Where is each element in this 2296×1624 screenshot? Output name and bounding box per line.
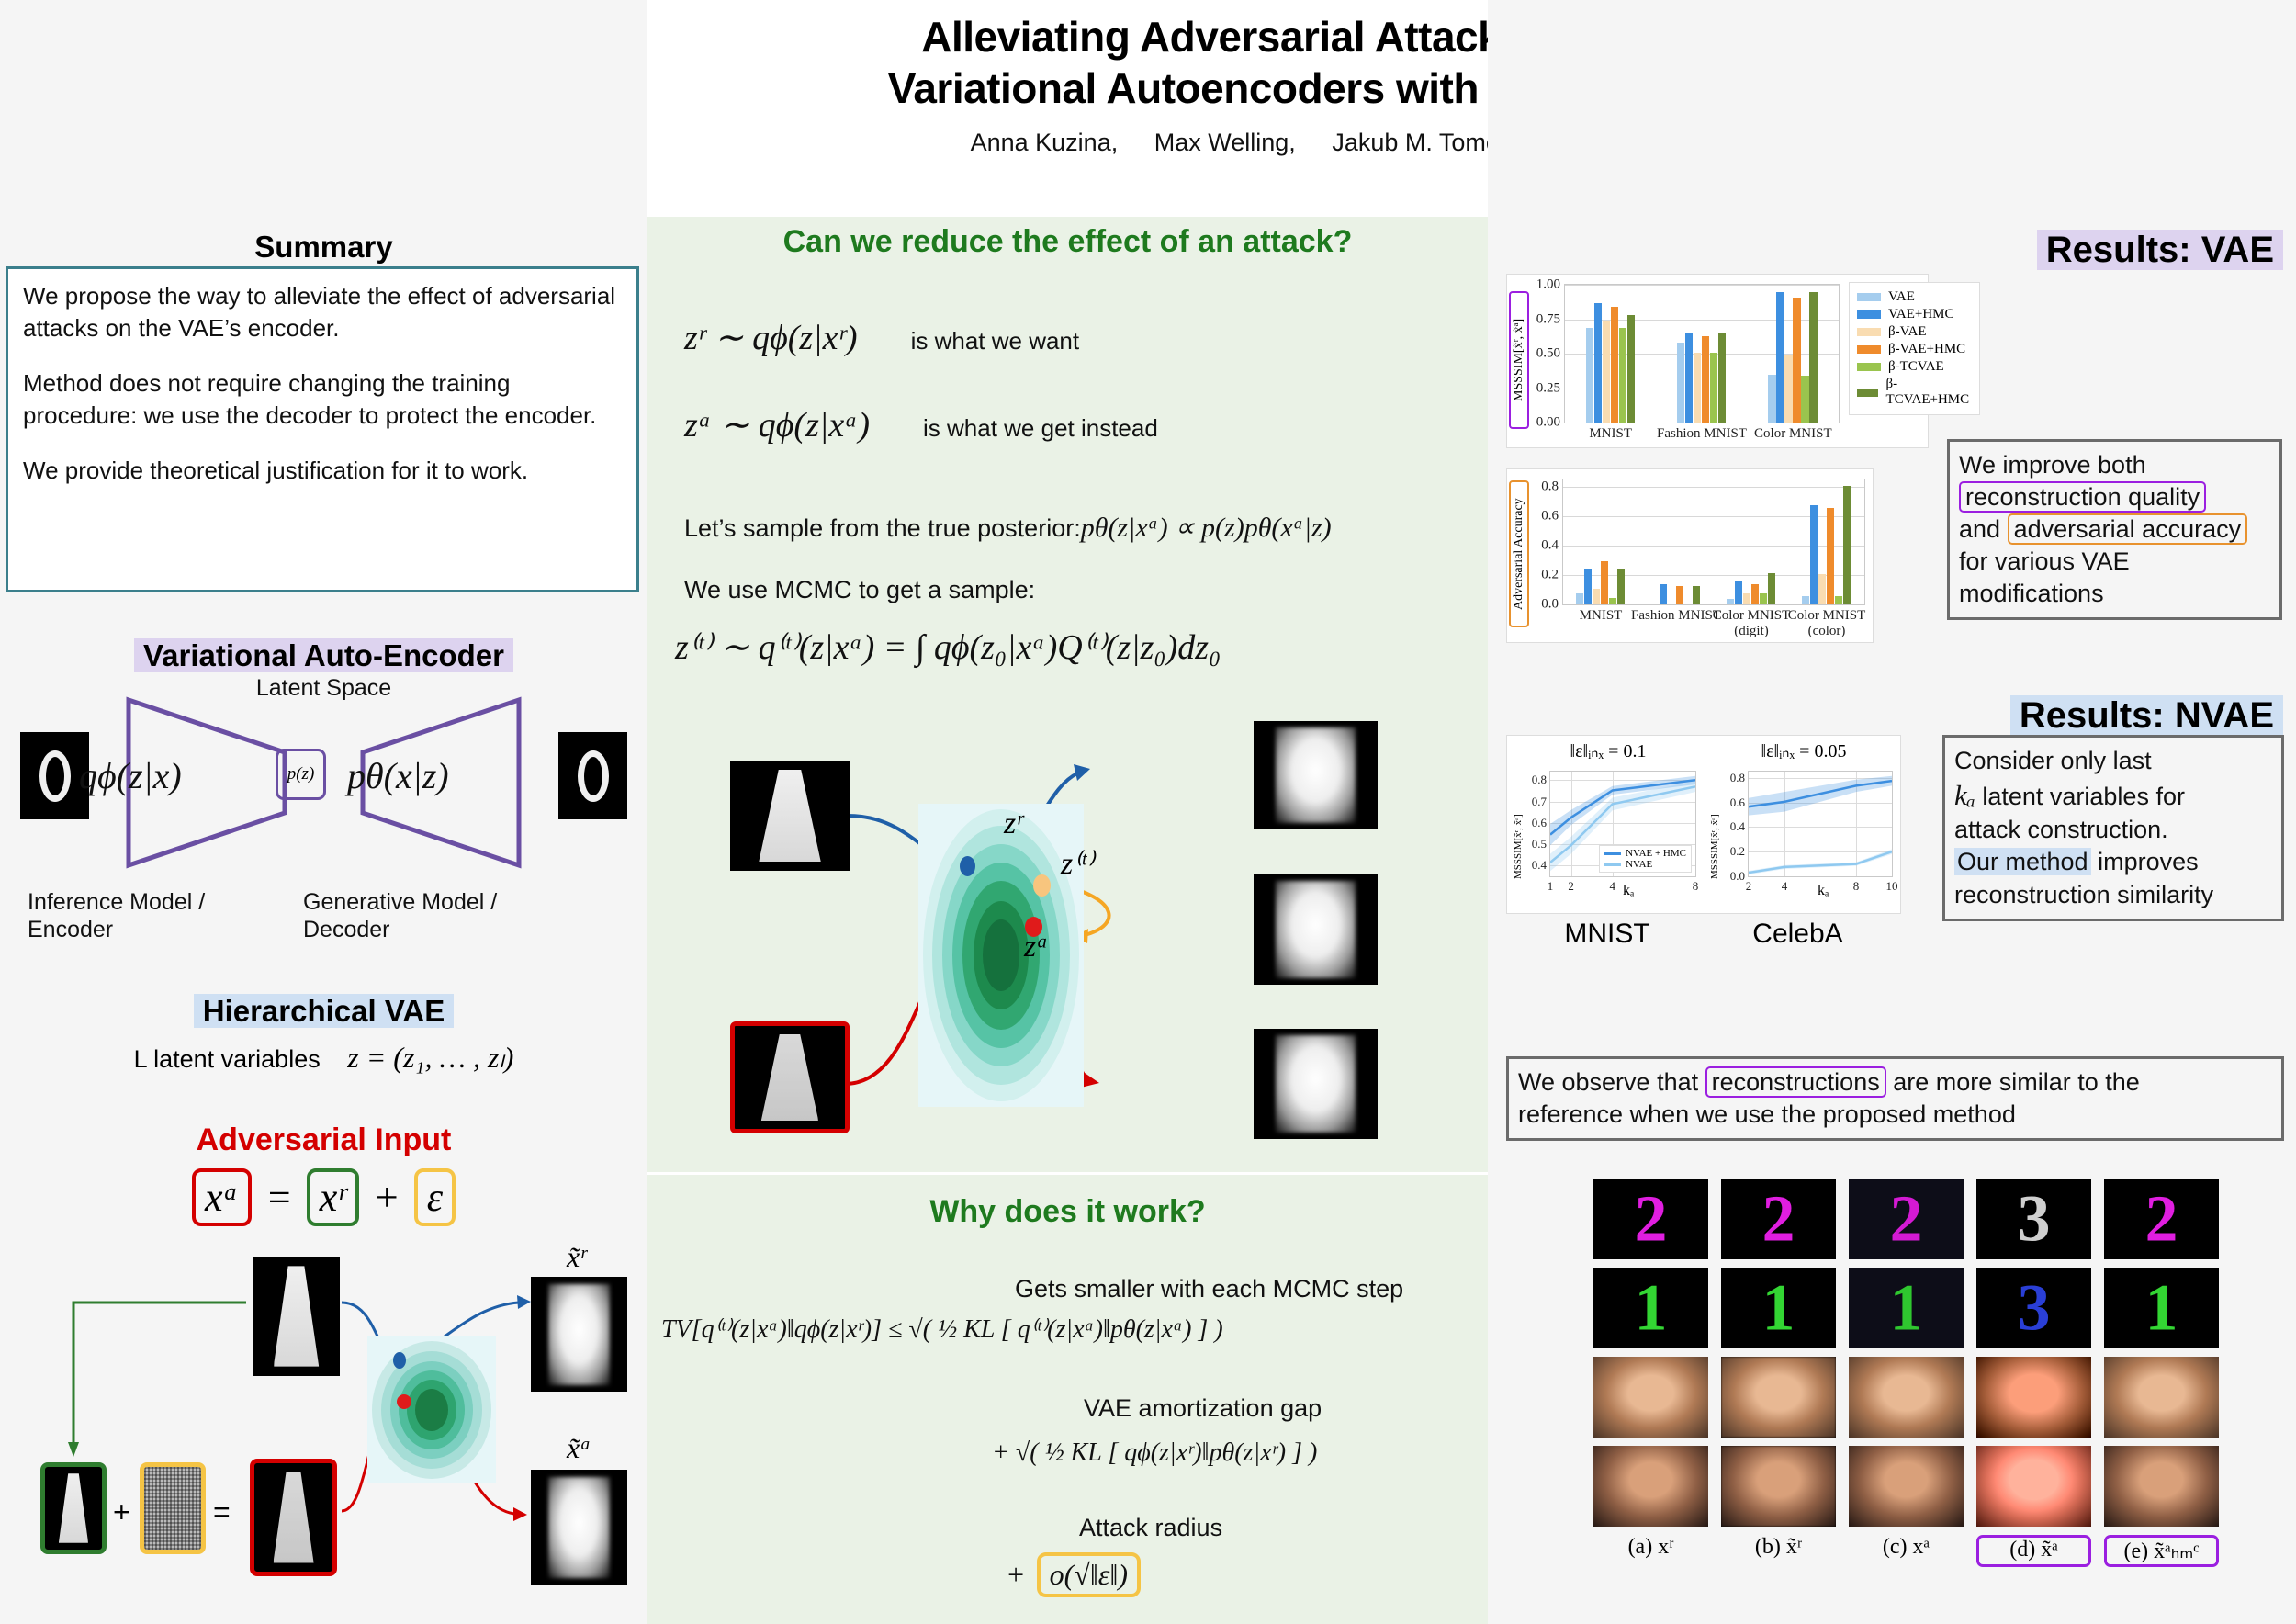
recon-cell: 2 — [1593, 1179, 1708, 1259]
note-box-nvae: Consider only last kₐ latent variables f… — [1942, 735, 2284, 921]
adversarial-equation: xᵃ = xʳ + ε — [0, 1168, 647, 1226]
note-amortization-gap: VAE amortization gap — [1084, 1394, 1322, 1423]
recon-caption-e: (e) x̃ᵃₕₘᶜ — [2104, 1535, 2219, 1567]
author-2: Max Welling, — [1154, 129, 1296, 156]
y-axis-tick: 1.00 — [1536, 277, 1560, 293]
nvae-dataset-label-mnist: MNIST — [1515, 919, 1699, 950]
bar — [1784, 355, 1792, 423]
y-axis-tick: 0.8 — [1730, 771, 1745, 785]
chart-nvae-mnist-xlabel: kₐ — [1623, 883, 1634, 899]
bar — [1809, 292, 1817, 423]
mcmc-input-adversarial — [730, 1021, 850, 1133]
x-axis-tick: 4 — [1609, 879, 1615, 894]
y-axis-tick: 0.6 — [1532, 816, 1547, 830]
note-nvae-line-4a: Our method — [1954, 848, 2091, 875]
equation-za: zᵃ ∼ qϕ(z|xᵃ) — [684, 404, 870, 445]
hvae-line: L latent variables z = (z₁, … , zₗ) — [0, 1040, 647, 1075]
legend-label: β-VAE+HMC — [1888, 342, 1965, 357]
x-axis-tick: MNIST — [1589, 426, 1632, 442]
bar — [1601, 561, 1608, 604]
recon-cell: 2 — [1721, 1179, 1836, 1259]
summary-paragraph-3: We provide theoretical justification for… — [23, 455, 622, 487]
y-axis-tick: 0.5 — [1532, 837, 1547, 851]
legend-swatch — [1604, 863, 1621, 866]
equation-tv-lhs: TV[q⁽ᵗ⁾(z|xᵃ)‖qϕ(z|xʳ)] ≤ — [661, 1315, 902, 1344]
y-axis-tick: 0.4 — [1532, 858, 1547, 873]
legend-label: VAE — [1888, 289, 1915, 305]
bar — [1576, 593, 1583, 604]
x-axis-tick: Fashion MNIST — [1631, 608, 1721, 624]
chart-nvae-celeba-axes: 0.00.20.40.60.824810 — [1748, 771, 1893, 877]
legend-swatch — [1857, 293, 1881, 301]
note-nvae-ka: kₐ — [1954, 779, 1975, 811]
middle-heading-2: Why does it work? — [647, 1194, 1488, 1230]
bar — [1727, 599, 1734, 604]
legend-swatch — [1604, 852, 1621, 855]
summary-heading: Summary — [0, 230, 647, 265]
recon-caption-c: (c) xᵃ — [1849, 1535, 1964, 1567]
x-axis-tick: Color MNIST(digit) — [1713, 608, 1791, 639]
y-axis-tick: 0.25 — [1536, 380, 1560, 396]
legend-swatch — [1857, 310, 1881, 319]
y-axis-tick: 0.8 — [1541, 479, 1559, 495]
bar — [1584, 569, 1592, 604]
bar — [1801, 376, 1808, 423]
recon-cell: 2 — [2104, 1179, 2219, 1259]
gridline — [1563, 516, 1864, 517]
posterior-text: Let’s sample from the true posterior: — [684, 514, 1081, 543]
equation-zr: zʳ ∼ qϕ(z|xʳ) — [684, 317, 858, 358]
y-axis-tick: 0.2 — [1730, 844, 1745, 859]
eq-plus: + — [373, 1175, 400, 1220]
y-axis-tick: 0.7 — [1532, 795, 1547, 809]
posterior-equation: pθ(z|xᵃ) ∝ p(z)pθ(xᵃ|z) — [1081, 512, 1332, 544]
legend-label: β-VAE — [1888, 324, 1927, 340]
recon-row-digit-green: 1 1 1 3 1 — [1593, 1268, 2273, 1348]
x-axis-tick: 8 — [1853, 879, 1860, 894]
chart-nvae-celeba-xlabel: kₐ — [1818, 883, 1829, 899]
equation-tv-rhs: √( ½ KL [ q⁽ᵗ⁾(z|xᵃ)‖pθ(z|xᵃ) ] ) — [908, 1315, 1222, 1344]
results-vae-heading: Results: VAE — [2037, 230, 2283, 271]
note-vae-line-3a: and — [1959, 515, 2000, 543]
equation-zr-note: is what we want — [911, 327, 1080, 355]
y-axis-tick: 0.8 — [1532, 773, 1547, 787]
bar — [1768, 573, 1775, 604]
eq-equals: = — [265, 1175, 293, 1220]
note-nvae-line-2b: latent variables for — [1982, 783, 2185, 810]
encoder-caption: Inference Model /Encoder — [28, 888, 205, 943]
bar — [1677, 343, 1684, 423]
note-vae-line-2: reconstruction quality — [1959, 481, 2206, 513]
author-1: Anna Kuzina, — [971, 129, 1119, 156]
note-vae-line-3b: adversarial accuracy — [2008, 513, 2248, 545]
note-nvae-line-3: attack construction. — [1954, 814, 2272, 846]
recon-cell — [1849, 1357, 1964, 1438]
latent-contour-middle — [918, 804, 1084, 1107]
bar — [1810, 505, 1818, 604]
note-vae-line-1: We improve both — [1959, 449, 2270, 481]
bar — [1760, 593, 1767, 604]
bar — [1593, 589, 1600, 604]
note-nvae-line-5: reconstruction similarity — [1954, 879, 2272, 911]
legend-item: β-VAE+HMC — [1857, 342, 1972, 357]
latent-contour-left — [367, 1336, 496, 1483]
recon-adversarial-image — [531, 1470, 627, 1585]
posterior-line: Let’s sample from the true posterior: pθ… — [684, 512, 1332, 544]
bar — [1751, 584, 1759, 604]
bar — [1843, 486, 1851, 604]
legend-label: NVAE + HMC — [1626, 848, 1686, 859]
legend-item: β-TCVAE — [1857, 359, 1972, 375]
bar — [1702, 336, 1709, 423]
equation-term-2: + √( ½ KL [ qϕ(z|xʳ)‖pθ(z|xʳ) ] ) — [992, 1438, 1317, 1468]
gridline — [1563, 546, 1864, 547]
encoder-equation: qϕ(z|x) — [79, 754, 182, 797]
left-column: Summary We propose the way to alleviate … — [0, 0, 647, 1624]
bar — [1743, 593, 1750, 604]
vae-heading-text: Variational Auto-Encoder — [134, 638, 513, 672]
mcmc-output-reference — [1254, 721, 1378, 829]
legend-item: β-TCVAE+HMC — [1857, 377, 1972, 408]
bar — [1685, 333, 1693, 423]
bar — [1793, 298, 1800, 423]
recon-cell — [1593, 1446, 1708, 1527]
recon-cell: 1 — [2104, 1268, 2219, 1348]
bar — [1735, 581, 1742, 604]
legend-swatch — [1857, 389, 1878, 397]
chart-msssim-legend: VAEVAE+HMCβ-VAEβ-VAE+HMCβ-TCVAEβ-TCVAE+H… — [1849, 282, 1980, 415]
legend-swatch — [1857, 328, 1881, 336]
recon-cell — [1721, 1357, 1836, 1438]
legend-item: NVAE + HMC — [1604, 848, 1686, 859]
adversarial-input-heading: Adversarial Input — [0, 1122, 647, 1158]
adversarial-diagram: + = x̃ʳ x̃ᵃ — [0, 1249, 647, 1617]
prior-box: p(z) — [276, 749, 326, 800]
middle-heading-1: Can we reduce the effect of an attack? — [647, 224, 1488, 260]
line-series — [1749, 851, 1892, 873]
legend-item: VAE+HMC — [1857, 307, 1972, 322]
point-zr — [960, 856, 975, 876]
recon-cell: 3 — [1976, 1179, 2091, 1259]
hvae-heading-text: Hierarchical VAE — [194, 994, 455, 1028]
vae-output-image — [558, 732, 627, 819]
x-axis-tick: 2 — [1568, 879, 1574, 894]
mcmc-input-reference — [730, 761, 850, 871]
recon-cell — [2104, 1446, 2219, 1527]
bar — [1594, 303, 1602, 423]
chart-nvae-mnist-axes: 0.40.50.60.70.81248NVAE + HMCNVAE — [1549, 771, 1696, 877]
mcmc-output-hmc — [1254, 874, 1378, 985]
x-axis-tick: Color MNIST(color) — [1788, 608, 1866, 639]
bar — [1776, 292, 1784, 423]
x-axis-tick: 8 — [1693, 879, 1699, 894]
chart-adv-plot-area: 0.00.20.40.60.8MNISTFashion MNISTColor M… — [1507, 469, 1874, 644]
note-nvae-line-1: Consider only last — [1954, 745, 2272, 777]
legend-label: β-TCVAE — [1888, 359, 1944, 375]
reference-image — [253, 1257, 340, 1376]
legend-swatch — [1857, 363, 1881, 371]
note-mcmc-step: Gets smaller with each MCMC step — [1015, 1275, 1403, 1303]
summary-paragraph-1: We propose the way to alleviate the effe… — [23, 280, 622, 344]
recon-cell — [1976, 1446, 2091, 1527]
recon-cell: 1 — [1721, 1268, 1836, 1348]
chart-nvae-celeba-ylabel: MSSSIM[x̃ʳ, x̃ᵃ] — [1709, 771, 1720, 879]
note-box-vae: We improve both reconstruction quality a… — [1947, 439, 2282, 620]
bar — [1617, 569, 1625, 604]
hvae-equation: z = (z₁, … , zₗ) — [347, 1041, 513, 1074]
chart-msssim-vae: MSSSIM[x̃ʳ, x̃ᵃ] 0.000.250.500.751.00MNI… — [1506, 274, 1929, 448]
recon-row-face-female — [1593, 1446, 2273, 1527]
chart-nvae-mnist: ‖ε‖ᵢₙₓ = 0.1 MSSSIM[x̃ʳ, x̃ᵃ] 0.40.50.60… — [1511, 739, 1705, 912]
recon-cell: 1 — [1593, 1268, 1708, 1348]
y-axis-tick: 0.75 — [1536, 311, 1560, 327]
equation-term-3-prefix: + — [1006, 1558, 1026, 1592]
confidence-band — [1749, 850, 1892, 875]
legend-label: VAE+HMC — [1888, 307, 1954, 322]
x-axis-tick: MNIST — [1580, 608, 1623, 624]
y-axis-tick: 0.4 — [1730, 819, 1745, 834]
bar — [1660, 584, 1667, 604]
recon-caption-a: (a) xʳ — [1593, 1535, 1708, 1567]
bar — [1619, 328, 1626, 423]
equation-row-2: zᵃ ∼ qϕ(z|xᵃ) is what we get instead — [684, 404, 1158, 445]
note-attack-radius: Attack radius — [1079, 1514, 1222, 1542]
chart-adversarial-accuracy: Adversarial Accuracy 0.00.20.40.60.8MNIS… — [1506, 468, 1874, 643]
eq-x-adversarial: xᵃ — [192, 1168, 252, 1226]
recon-row-digit-magenta: 2 2 2 3 2 — [1593, 1179, 2273, 1259]
mcmc-text: We use MCMC to get a sample: — [684, 576, 1035, 604]
recon-cell — [1976, 1357, 2091, 1438]
label-zt: z⁽ᵗ⁾ — [1061, 845, 1094, 882]
recon-row-face-male — [1593, 1357, 2273, 1438]
equals-sign: = — [213, 1495, 231, 1529]
note-recon-line-1a: We observe that — [1518, 1068, 1698, 1096]
recon-cell: 1 — [1849, 1268, 1964, 1348]
recon-cell: 3 — [1976, 1268, 2091, 1348]
bar — [1693, 586, 1700, 604]
point-zt — [1033, 874, 1051, 897]
x-axis-tick: 4 — [1782, 879, 1788, 894]
bar — [1586, 328, 1593, 423]
legend-item: NVAE — [1604, 859, 1686, 870]
chart-nvae-group: ‖ε‖ᵢₙₓ = 0.1 MSSSIM[x̃ʳ, x̃ᵃ] 0.40.50.60… — [1506, 735, 1901, 914]
bar — [1802, 596, 1809, 604]
chart-nvae-mnist-title: ‖ε‖ᵢₙₓ = 0.1 — [1511, 739, 1705, 762]
mcmc-diagram: zʳ z⁽ᵗ⁾ zᵃ — [647, 716, 1488, 1167]
eq-x-reference: xʳ — [307, 1168, 359, 1226]
decoder-caption: Generative Model /Decoder — [303, 888, 497, 943]
equation-term-3-boxed: o(√‖ε‖) — [1037, 1552, 1141, 1597]
hvae-text: L latent variables — [134, 1045, 321, 1073]
y-axis-tick: 0.2 — [1541, 568, 1559, 583]
plus-sign: + — [113, 1495, 130, 1529]
adversarial-image-red — [250, 1459, 337, 1576]
note-box-recon: We observe that reconstructions are more… — [1506, 1056, 2284, 1141]
recon-cell — [1849, 1446, 1964, 1527]
nvae-dataset-label-celeba: CelebA — [1699, 919, 1896, 950]
latent-point-adversarial — [397, 1394, 411, 1409]
vae-diagram: Latent Space qϕ(z|x) p(z) pθ(x| — [0, 675, 647, 886]
bar — [1818, 574, 1826, 604]
gridline — [1563, 487, 1864, 488]
confidence-band — [1749, 776, 1892, 816]
legend-label: NVAE — [1626, 859, 1652, 870]
results-nvae-heading-text: Results: NVAE — [2010, 695, 2283, 736]
bar — [1835, 596, 1842, 604]
y-axis-tick: 0.0 — [1730, 869, 1745, 884]
latent-point-reference — [393, 1352, 406, 1369]
legend-item: β-VAE — [1857, 324, 1972, 340]
prior-equation: p(z) — [287, 764, 315, 784]
summary-box: We propose the way to alleviate the effe… — [6, 266, 639, 592]
vae-heading: Variational Auto-Encoder — [0, 638, 647, 673]
bar — [1627, 315, 1635, 423]
chart-adv-axes: 0.00.20.40.60.8MNISTFashion MNISTColor M… — [1562, 479, 1865, 605]
recon-cell — [2104, 1357, 2219, 1438]
x-axis-tick: 2 — [1746, 879, 1752, 894]
legend-item: VAE — [1857, 289, 1972, 305]
x-axis-tick: Color MNIST — [1754, 426, 1832, 442]
y-axis-tick: 0.6 — [1730, 795, 1745, 810]
recon-caption-row: (a) xʳ (b) x̃ʳ (c) xᵃ (d) x̃ᵃ (e) x̃ᵃₕₘᶜ — [1593, 1535, 2273, 1567]
recon-cell: 2 — [1849, 1179, 1964, 1259]
recon-cell — [1721, 1446, 1836, 1527]
note-vae-line-4: for various VAE — [1959, 546, 2270, 578]
y-axis-tick: 0.4 — [1541, 538, 1559, 554]
note-recon-line-2: reference when we use the proposed metho… — [1518, 1099, 2272, 1131]
reconstruction-grid: 2 2 2 3 2 1 1 1 3 1 (a) xʳ — [1593, 1179, 2273, 1567]
results-nvae-heading: Results: NVAE — [2010, 695, 2283, 737]
recon-reference-image — [531, 1277, 627, 1392]
equation-row-1: zʳ ∼ qϕ(z|xʳ) is what we want — [684, 317, 1079, 358]
recon-cell — [1593, 1357, 1708, 1438]
y-axis-tick: 0.0 — [1541, 597, 1559, 613]
equation-term-3: + o(√‖ε‖) — [1006, 1552, 1144, 1597]
legend-swatch — [1857, 345, 1881, 354]
noise-image — [140, 1462, 206, 1554]
bar — [1694, 353, 1701, 423]
line-series — [1749, 781, 1892, 806]
note-recon-line-1c: are more similar to the — [1893, 1068, 2140, 1096]
decoder-equation: pθ(x|z) — [347, 754, 449, 797]
mcmc-output-adversarial — [1254, 1029, 1378, 1139]
label-za: zᵃ — [1024, 930, 1049, 964]
y-axis-tick: 0.50 — [1536, 346, 1560, 362]
chart-legend: NVAE + HMCNVAE — [1599, 845, 1692, 873]
label-zr: zʳ — [1004, 806, 1023, 841]
note-nvae-line-4b: improves — [2098, 848, 2199, 875]
note-recon-line-1b: reconstructions — [1705, 1066, 1886, 1098]
x-axis-tick: Fashion MNIST — [1657, 426, 1747, 442]
note-vae-line-5: modifications — [1959, 578, 2270, 610]
bar — [1827, 508, 1834, 604]
chart-msssim-axes: 0.000.250.500.751.00MNISTFashion MNISTCo… — [1564, 284, 1840, 423]
latent-space-label: Latent Space — [0, 675, 647, 702]
digit-zero-glyph — [39, 750, 71, 802]
bar — [1611, 307, 1618, 423]
recon-caption-b: (b) x̃ʳ — [1721, 1535, 1836, 1567]
bar — [1676, 586, 1683, 604]
bar — [1609, 598, 1616, 604]
chart-nvae-mnist-ylabel: MSSSIM[x̃ʳ, x̃ᵃ] — [1513, 771, 1524, 879]
y-axis-tick: 0.00 — [1536, 415, 1560, 431]
recon-caption-d: (d) x̃ᵃ — [1976, 1535, 2091, 1567]
digit-zero-glyph-out — [578, 750, 609, 802]
poster-root: VU VRIJE UNIVERSITEIT AMSTERDAM — [0, 0, 2296, 1624]
x-axis-tick: 1 — [1548, 879, 1554, 894]
original-image-green — [40, 1462, 107, 1554]
recon-adv-label: x̃ᵃ — [567, 1431, 591, 1465]
line-series-group — [1749, 772, 1892, 876]
bar — [1768, 375, 1775, 423]
legend-label: β-TCVAE+HMC — [1885, 377, 1971, 408]
results-vae-heading-text: Results: VAE — [2037, 230, 2283, 270]
bar — [1603, 321, 1610, 423]
chart-nvae-celeba: ‖ε‖ᵢₙₓ = 0.05 MSSSIM[x̃ʳ, x̃ᵃ] 0.00.20.4… — [1707, 739, 1900, 912]
bar — [1710, 353, 1717, 423]
eq-epsilon: ε — [414, 1168, 456, 1226]
bar — [1718, 333, 1726, 423]
recon-ref-label: x̃ʳ — [567, 1240, 586, 1274]
y-axis-tick: 0.6 — [1541, 509, 1559, 524]
x-axis-tick: 10 — [1886, 879, 1898, 894]
hierarchical-vae-heading: Hierarchical VAE — [0, 994, 647, 1029]
gridline — [1565, 285, 1839, 286]
equation-tv-bound: TV[q⁽ᵗ⁾(z|xᵃ)‖qϕ(z|xʳ)] ≤ √( ½ KL [ q⁽ᵗ⁾… — [661, 1314, 1223, 1345]
mcmc-equation: z⁽ᵗ⁾ ∼ q⁽ᵗ⁾(z|xᵃ) = ∫ qϕ(z₀|xᵃ)Q⁽ᵗ⁾(z|z₀… — [675, 626, 1221, 668]
chart-nvae-celeba-title: ‖ε‖ᵢₙₓ = 0.05 — [1707, 739, 1900, 762]
summary-paragraph-2: Method does not require changing the tra… — [23, 367, 622, 431]
equation-za-note: is what we get instead — [923, 414, 1158, 443]
